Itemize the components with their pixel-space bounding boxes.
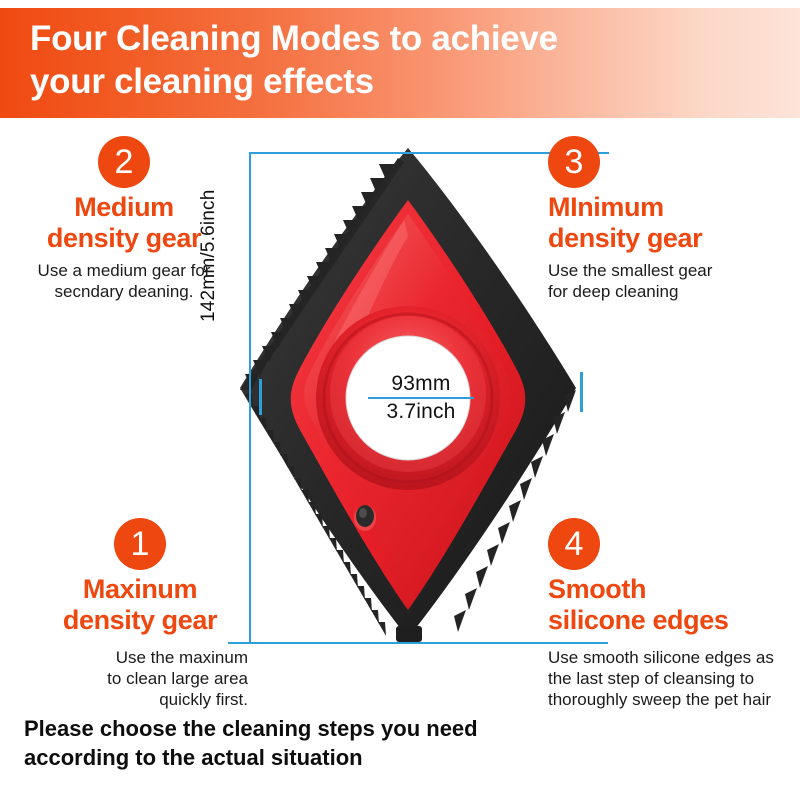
callout-badge-1: 1 xyxy=(114,518,166,570)
callout-minimum-density-gear: 3 MInimum density gear Use the smallest … xyxy=(548,136,800,302)
dimension-hole-inch-label: 3.7inch xyxy=(341,400,501,424)
callout-body-2: Use a medium gear for secndary deaning. xyxy=(0,260,248,302)
callout-body-1: Use the maxinum to clean large area quic… xyxy=(32,647,248,710)
bottom-tip xyxy=(396,626,422,642)
callout-maximum-density-gear: 1 Maxinum density gear Use the maxinum t… xyxy=(32,518,248,710)
dimension-line-vertical xyxy=(249,152,251,644)
callout-body-4: Use smooth silicone edges as the last st… xyxy=(548,647,800,710)
callout-title-2: Medium density gear xyxy=(0,192,248,253)
callout-body-3: Use the smallest gear for deep cleaning xyxy=(548,260,800,302)
callout-badge-3: 3 xyxy=(548,136,600,188)
callout-badge-2: 2 xyxy=(98,136,150,188)
header-banner: Four Cleaning Modes to achieve your clea… xyxy=(0,8,800,118)
hanging-hole-dot xyxy=(354,505,376,531)
dimension-tick-right xyxy=(580,372,583,412)
callout-badge-4: 4 xyxy=(548,518,600,570)
callout-title-4: Smooth silicone edges xyxy=(548,574,800,635)
callout-medium-density-gear: 2 Medium density gear Use a medium gear … xyxy=(0,136,248,302)
page-title: Four Cleaning Modes to achieve your clea… xyxy=(30,18,730,103)
infographic-page: Four Cleaning Modes to achieve your clea… xyxy=(0,0,800,800)
callout-title-1: Maxinum density gear xyxy=(32,574,248,635)
callout-smooth-silicone-edges: 4 Smooth silicone edges Use smooth silic… xyxy=(548,518,800,710)
dimension-tick-left xyxy=(259,379,262,415)
callout-title-3: MInimum density gear xyxy=(548,192,800,253)
dimension-hole-mm-label: 93mm xyxy=(341,372,501,396)
dimension-line-hole xyxy=(368,397,474,399)
footer-caption: Please choose the cleaning steps you nee… xyxy=(24,714,544,772)
